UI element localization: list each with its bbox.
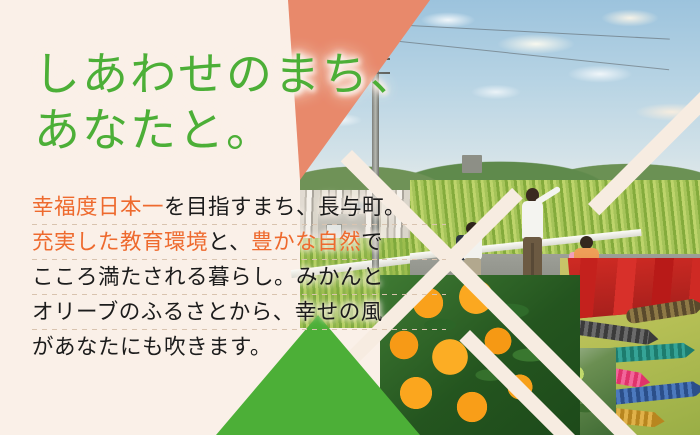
body-line: 充実した教育環境と、豊かな自然で bbox=[32, 225, 444, 260]
body-line: 幸福度日本一を目指すまち、長与町。 bbox=[32, 190, 444, 225]
body-text: オリーブのふるさとから、幸せの風 bbox=[32, 300, 383, 324]
body-text: があなたにも吹きます。 bbox=[32, 335, 272, 359]
body-text: で bbox=[361, 230, 383, 254]
body-line: があなたにも吹きます。 bbox=[32, 330, 444, 365]
headline: しあわせのまち、 あなたと。 bbox=[34, 46, 418, 158]
body-highlight: 充実した教育環境 bbox=[32, 230, 208, 254]
body-text: こころ満たされる暮らし。みかんと bbox=[32, 265, 384, 289]
body-copy: 幸福度日本一を目指すまち、長与町。 充実した教育環境と、豊かな自然で こころ満た… bbox=[32, 190, 444, 365]
body-highlight: 幸福度日本一 bbox=[32, 195, 164, 219]
carp-streamer bbox=[603, 381, 696, 406]
body-text: を目指すまち、長与町。 bbox=[164, 195, 406, 219]
headline-line-1: しあわせのまち、 bbox=[34, 47, 418, 101]
body-text: と、 bbox=[208, 230, 251, 254]
headline-line-2: あなたと。 bbox=[34, 102, 418, 158]
body-line: こころ満たされる暮らし。みかんと bbox=[32, 260, 444, 295]
poster-root: しあわせのまち、 あなたと。 幸福度日本一を目指すまち、長与町。 充実した教育環… bbox=[0, 0, 700, 435]
body-highlight: 豊かな自然 bbox=[251, 230, 361, 254]
body-line: オリーブのふるさとから、幸せの風 bbox=[32, 295, 444, 330]
hilltop-tower bbox=[462, 155, 482, 173]
